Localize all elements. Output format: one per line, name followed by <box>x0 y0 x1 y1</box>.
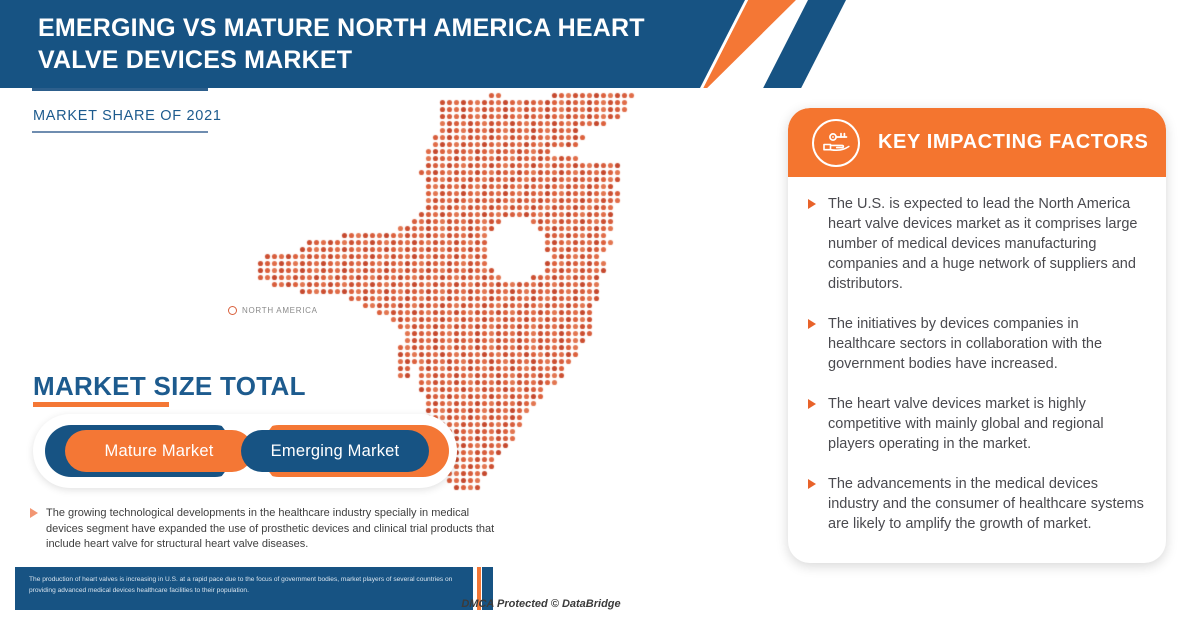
list-item-text: The U.S. is expected to lead the North A… <box>828 194 1144 294</box>
key-impacting-factors-list: The U.S. is expected to lead the North A… <box>788 177 1166 563</box>
triangle-bullet-icon <box>808 319 816 329</box>
map-legend-dot-icon <box>228 306 237 315</box>
pill-emerging-front: Emerging Market <box>241 430 429 472</box>
key-impacting-factors-header: KEY IMPACTING FACTORS <box>788 108 1166 177</box>
page-title: EMERGING VS MATURE NORTH AMERICA HEART V… <box>38 12 688 76</box>
pill-emerging-label: Emerging Market <box>271 442 400 461</box>
market-pills-card: Mature Market Emerging Market <box>33 414 457 488</box>
list-item: The U.S. is expected to lead the North A… <box>808 194 1144 294</box>
triangle-bullet-icon <box>808 199 816 209</box>
pill-mature-label: Mature Market <box>105 442 214 461</box>
map-legend-label: NORTH AMERICA <box>242 306 318 315</box>
market-size-total-title: MARKET SIZE TOTAL <box>33 371 306 402</box>
list-item-text: The initiatives by devices companies in … <box>828 314 1144 374</box>
key-impacting-factors-panel: KEY IMPACTING FACTORS The U.S. is expect… <box>788 108 1166 563</box>
left-note: The growing technological developments i… <box>30 506 500 553</box>
pill-emerging-market[interactable]: Emerging Market <box>233 425 449 477</box>
triangle-bullet-icon <box>808 399 816 409</box>
list-item: The heart valve devices market is highly… <box>808 394 1144 454</box>
market-share-label: MARKET SHARE OF 2021 <box>33 108 222 124</box>
infographic-page: EMERGING VS MATURE NORTH AMERICA HEART V… <box>0 0 1200 618</box>
map-legend: NORTH AMERICA <box>228 306 318 315</box>
market-size-total-underline <box>33 402 169 407</box>
left-note-text: The growing technological developments i… <box>46 506 500 553</box>
pill-mature-market[interactable]: Mature Market <box>45 425 261 477</box>
list-item: The advancements in the medical devices … <box>808 474 1144 534</box>
key-impacting-factors-title: KEY IMPACTING FACTORS <box>878 131 1148 154</box>
hand-holding-key-icon <box>812 119 860 167</box>
bottom-banner-text: The production of heart valves is increa… <box>29 575 461 596</box>
list-item-text: The advancements in the medical devices … <box>828 474 1144 534</box>
triangle-bullet-icon <box>30 508 38 518</box>
list-item: The initiatives by devices companies in … <box>808 314 1144 374</box>
footer-credit: DMCA Protected © DataBridge <box>0 598 1200 610</box>
header-band: EMERGING VS MATURE NORTH AMERICA HEART V… <box>0 0 745 88</box>
pill-mature-front: Mature Market <box>65 430 253 472</box>
triangle-bullet-icon <box>808 479 816 489</box>
market-share-rule-bottom <box>32 131 208 133</box>
list-item-text: The heart valve devices market is highly… <box>828 394 1144 454</box>
market-share-rule-top <box>32 88 208 91</box>
